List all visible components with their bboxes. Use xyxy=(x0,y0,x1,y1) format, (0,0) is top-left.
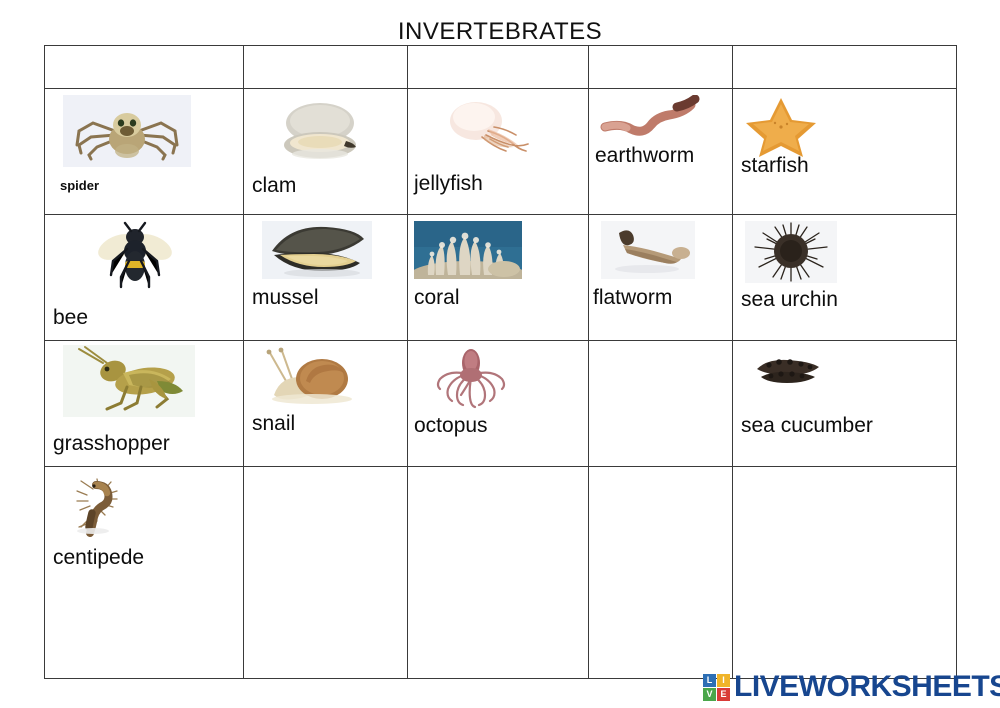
cell-sea-cucumber[interactable]: sea cucumber xyxy=(733,341,957,467)
starfish-icon xyxy=(741,95,821,157)
header-cell-3[interactable] xyxy=(408,46,589,89)
bee-icon xyxy=(87,221,183,293)
cell-label: jellyfish xyxy=(414,173,483,194)
flatworm-icon xyxy=(601,221,695,279)
cell-empty-r4c4[interactable] xyxy=(589,467,733,679)
cell-label: earthworm xyxy=(595,145,694,166)
cell-jellyfish[interactable]: jellyfish xyxy=(408,89,589,215)
table-row: grasshopper xyxy=(45,341,957,467)
coral-icon xyxy=(414,221,522,279)
cell-empty-r4c5[interactable] xyxy=(733,467,957,679)
header-cell-2[interactable] xyxy=(244,46,408,89)
cell-label: octopus xyxy=(414,415,488,436)
cell-empty-r3c4[interactable] xyxy=(589,341,733,467)
cell-label: flatworm xyxy=(593,287,672,308)
cell-coral[interactable]: coral xyxy=(408,215,589,341)
table-row: spider xyxy=(45,89,957,215)
cell-empty-r4c3[interactable] xyxy=(408,467,589,679)
header-cell-4[interactable] xyxy=(589,46,733,89)
liveworksheets-logo-tiles: L I V E xyxy=(703,674,730,701)
table-row: bee xyxy=(45,215,957,341)
jellyfish-icon xyxy=(436,97,546,155)
cell-label: mussel xyxy=(252,287,319,308)
cell-snail[interactable]: snail xyxy=(244,341,408,467)
table-header-row xyxy=(45,46,957,89)
cell-label: spider xyxy=(60,179,99,192)
cell-spider[interactable]: spider xyxy=(45,89,244,215)
cell-bee[interactable]: bee xyxy=(45,215,244,341)
centipede-icon xyxy=(63,475,139,537)
cell-label: starfish xyxy=(741,155,809,176)
worksheet-page: INVERTEBRATES xyxy=(0,0,1000,708)
mussel-icon xyxy=(262,221,372,279)
page-title: INVERTEBRATES xyxy=(0,18,1000,46)
earthworm-icon xyxy=(599,95,709,139)
grasshopper-icon xyxy=(63,345,195,417)
cell-label: bee xyxy=(53,307,88,328)
snail-icon xyxy=(256,347,366,409)
cell-earthworm[interactable]: earthworm xyxy=(589,89,733,215)
cell-octopus[interactable]: octopus xyxy=(408,341,589,467)
header-cell-5[interactable] xyxy=(733,46,957,89)
table-row: centipede xyxy=(45,467,957,679)
invertebrates-table: spider xyxy=(44,45,957,679)
cell-starfish[interactable]: starfish xyxy=(733,89,957,215)
spider-icon xyxy=(63,95,191,167)
cell-label: centipede xyxy=(53,547,144,568)
logo-tile-i: I xyxy=(717,674,730,687)
cell-empty-r4c2[interactable] xyxy=(244,467,408,679)
cell-flatworm[interactable]: flatworm xyxy=(589,215,733,341)
cell-label: snail xyxy=(252,413,295,434)
cell-label: grasshopper xyxy=(53,433,170,454)
logo-tile-l: L xyxy=(703,674,716,687)
cell-label: clam xyxy=(252,175,296,196)
sea-cucumber-icon xyxy=(747,349,827,389)
cell-label: coral xyxy=(414,287,460,308)
cell-sea-urchin[interactable]: sea urchin xyxy=(733,215,957,341)
cell-label: sea cucumber xyxy=(741,415,873,436)
cell-centipede[interactable]: centipede xyxy=(45,467,244,679)
liveworksheets-wordmark: LIVEWORKSHEETS xyxy=(734,672,1000,702)
cell-grasshopper[interactable]: grasshopper xyxy=(45,341,244,467)
clam-icon xyxy=(270,97,370,163)
sea-urchin-icon xyxy=(745,221,837,283)
logo-tile-e: E xyxy=(717,688,730,701)
cell-label: sea urchin xyxy=(741,289,838,310)
cell-clam[interactable]: clam xyxy=(244,89,408,215)
liveworksheets-logo[interactable]: L I V E LIVEWORKSHEETS xyxy=(703,670,1000,704)
logo-tile-v: V xyxy=(703,688,716,701)
header-cell-1[interactable] xyxy=(45,46,244,89)
cell-mussel[interactable]: mussel xyxy=(244,215,408,341)
octopus-icon xyxy=(426,347,516,409)
